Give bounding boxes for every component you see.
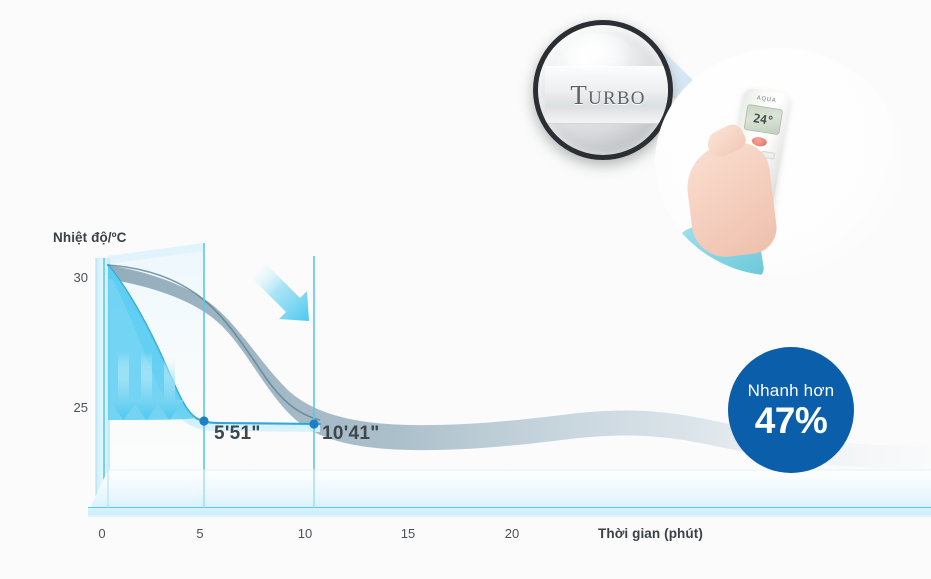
- remote-photo: AQUA 24°: [655, 48, 903, 276]
- badge-value: 47%: [755, 402, 828, 439]
- turbo-label: Turbo: [570, 80, 645, 111]
- x-tick-label-0: 0: [89, 526, 115, 541]
- remote-lcd-screen: 24°: [744, 104, 784, 135]
- marker-label-first: 5'51": [214, 423, 261, 445]
- hand: [682, 139, 779, 260]
- remote-temperature-value: 24°: [752, 111, 774, 128]
- y-tick-label-25: 25: [58, 400, 88, 415]
- chart-floor: [88, 470, 931, 516]
- magnifier-ring: Turbo: [533, 20, 673, 160]
- infographic-canvas: Nhiệt độ/ºC Thời gian (phút) 30 25 0 5 1…: [0, 0, 931, 579]
- down-arrows-icon: [109, 352, 184, 420]
- badge-caption: Nhanh hơn: [748, 381, 835, 401]
- y-axis-title: Nhiệt độ/ºC: [53, 230, 127, 245]
- x-tick-label-20: 20: [499, 526, 525, 541]
- y-tick-label-30: 30: [58, 270, 88, 285]
- x-axis-title: Thời gian (phút): [598, 526, 703, 541]
- marker-label-second: 10'41": [322, 423, 380, 445]
- x-tick-label-15: 15: [395, 526, 421, 541]
- turbo-magnifier: Turbo: [533, 20, 673, 160]
- faster-percent-badge: Nhanh hơn 47%: [728, 347, 854, 473]
- x-tick-label-10: 10: [292, 526, 318, 541]
- diagonal-arrow-icon: [252, 264, 309, 321]
- x-tick-label-5: 5: [187, 526, 213, 541]
- turbo-keycap: Turbo: [545, 66, 671, 124]
